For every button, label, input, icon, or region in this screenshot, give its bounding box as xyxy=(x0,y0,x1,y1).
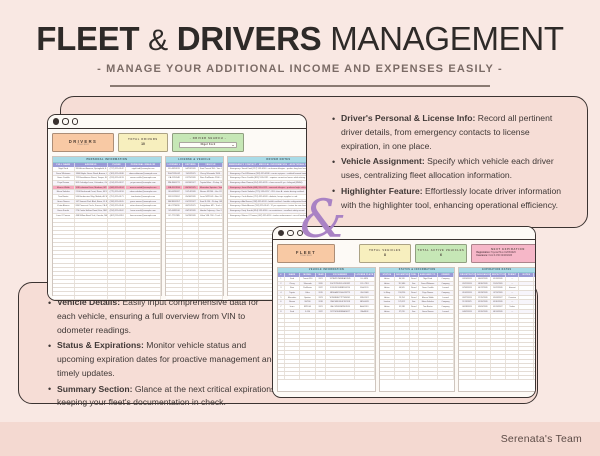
table-cell[interactable]: Chevy Silverado 1500 - #07 xyxy=(199,172,223,176)
table-cell[interactable]: 37,220 xyxy=(395,310,410,314)
summary-card-pink[interactable]: NEXT EXPIRATIONRegistration: Toyota Hilu… xyxy=(471,244,536,263)
table-cell[interactable]: Company xyxy=(438,282,454,286)
table-cell[interactable]: Tom Baxter xyxy=(53,195,75,199)
table-cell-empty[interactable] xyxy=(108,255,126,258)
table-cell-empty[interactable] xyxy=(300,360,316,363)
table-cell-empty[interactable] xyxy=(108,235,126,238)
table-cell-empty[interactable] xyxy=(166,300,183,301)
table-cell[interactable]: 39 Hillcrest Avenue, Springfield, IL 627… xyxy=(75,167,108,171)
table-cell-empty[interactable] xyxy=(380,331,395,334)
table-cell-empty[interactable] xyxy=(75,272,108,275)
table-cell-empty[interactable] xyxy=(419,319,438,322)
table-cell-empty[interactable] xyxy=(506,335,520,338)
table-cell-empty[interactable] xyxy=(419,327,438,330)
table-cell-empty[interactable] xyxy=(53,280,75,283)
table-cell-empty[interactable] xyxy=(410,376,419,379)
table-cell[interactable]: Owen Castillo xyxy=(53,176,75,180)
table-row-empty[interactable] xyxy=(53,300,161,301)
table-cell[interactable]: Emergency: Dmitri Sokolov (775) 555-0157… xyxy=(228,190,307,194)
table-cell-empty[interactable] xyxy=(355,360,375,363)
table-cell[interactable]: 1FTBW2CM3MKA12845 xyxy=(326,277,354,281)
table-cell-empty[interactable] xyxy=(199,255,223,258)
table-cell-empty[interactable] xyxy=(108,219,126,222)
table-cell[interactable]: 05/06/2026 xyxy=(183,195,199,199)
table-cell-empty[interactable] xyxy=(491,319,506,322)
table-cell-empty[interactable] xyxy=(459,368,476,371)
table-cell[interactable]: 84,120 xyxy=(395,277,410,281)
table-row-empty[interactable] xyxy=(166,300,223,301)
table-body[interactable]: Active84,120DieselNigel FordCompanyActiv… xyxy=(380,277,454,391)
table-cell[interactable]: Active xyxy=(380,277,395,281)
table-cell-empty[interactable] xyxy=(459,319,476,322)
table-cell-empty[interactable] xyxy=(506,360,520,363)
table-cell-empty[interactable] xyxy=(355,319,375,322)
table-cell[interactable]: 3GCPYFED2LG110932 xyxy=(326,282,354,286)
table-cell[interactable]: 08/11/2025 xyxy=(183,204,199,208)
table-cell[interactable]: Hazmat xyxy=(506,286,520,290)
table-cell-empty[interactable] xyxy=(519,327,534,330)
table-cell-empty[interactable] xyxy=(476,368,491,371)
table-cell-empty[interactable] xyxy=(183,284,199,287)
table-cell-empty[interactable] xyxy=(410,368,419,371)
table-cell-empty[interactable] xyxy=(285,339,301,342)
table-cell-empty[interactable] xyxy=(166,231,183,234)
table-cell-empty[interactable] xyxy=(126,288,161,291)
table-cell-empty[interactable] xyxy=(75,239,108,242)
table-cell[interactable]: Grace Nwosu xyxy=(419,310,438,314)
table-cell-empty[interactable] xyxy=(459,327,476,330)
table-cell-empty[interactable] xyxy=(278,335,285,338)
table-cell-empty[interactable] xyxy=(126,259,161,262)
table-cell[interactable]: ALA-5519 xyxy=(355,305,375,309)
table-cell[interactable] xyxy=(519,300,534,304)
table-cell[interactable]: Dana Whitmore xyxy=(53,172,75,176)
table-cell[interactable]: 564 Harborview Way, Mobile, AL 36604 xyxy=(75,195,108,199)
table-cell[interactable]: — xyxy=(506,300,520,304)
table-cell-empty[interactable] xyxy=(126,300,161,301)
table-cell[interactable]: 07/09/2026 xyxy=(459,286,476,290)
table-cell-empty[interactable] xyxy=(326,368,354,371)
table-cell[interactable]: OC-7712385 xyxy=(166,214,183,218)
table-cell-empty[interactable] xyxy=(491,339,506,342)
table-cell-empty[interactable] xyxy=(285,360,301,363)
table-cell[interactable]: MR0HA3CD500418773 xyxy=(326,291,354,295)
table-cell-empty[interactable] xyxy=(506,376,520,379)
table-cell-empty[interactable] xyxy=(53,247,75,250)
table-cell-empty[interactable] xyxy=(476,314,491,317)
table-cell-empty[interactable] xyxy=(491,331,506,334)
summary-card-yellow[interactable]: TOTAL VEHICLES8 xyxy=(359,244,411,263)
table-cell-empty[interactable] xyxy=(199,247,223,250)
table-cell-empty[interactable] xyxy=(166,288,183,291)
table-cell[interactable]: 06/18/2026 xyxy=(459,305,476,309)
table-cell-empty[interactable] xyxy=(506,323,520,326)
table-cell-empty[interactable] xyxy=(506,355,520,358)
table-cell-empty[interactable] xyxy=(108,280,126,283)
table-cell-empty[interactable] xyxy=(183,280,199,283)
table-cell[interactable]: WIS-3374 xyxy=(355,296,375,300)
table-cell-empty[interactable] xyxy=(278,355,285,358)
table-cell-empty[interactable] xyxy=(355,314,375,317)
table-cell-empty[interactable] xyxy=(199,243,223,246)
table-cell-empty[interactable] xyxy=(126,231,161,234)
table-cell-empty[interactable] xyxy=(380,372,395,375)
table-row-empty[interactable] xyxy=(380,376,454,380)
table-cell-empty[interactable] xyxy=(53,251,75,254)
table-cell-empty[interactable] xyxy=(410,339,419,342)
table-cell-empty[interactable] xyxy=(326,355,354,358)
table-cell-empty[interactable] xyxy=(199,300,223,301)
table-cell-empty[interactable] xyxy=(166,272,183,275)
table-cell-empty[interactable] xyxy=(75,288,108,291)
table-cell-empty[interactable] xyxy=(53,223,75,226)
table-cell[interactable]: Volvo VNL 760 - Truck #02 xyxy=(199,214,223,218)
table-cell-empty[interactable] xyxy=(519,335,534,338)
table-cell-empty[interactable] xyxy=(380,376,395,379)
table-cell-empty[interactable] xyxy=(355,339,375,342)
table-cell-empty[interactable] xyxy=(459,364,476,367)
table-cell[interactable]: NEV-6628 xyxy=(355,300,375,304)
table-cell-empty[interactable] xyxy=(438,355,454,358)
table-cell[interactable]: Company xyxy=(438,305,454,309)
table-cell[interactable]: Active xyxy=(380,282,395,286)
table-cell-empty[interactable] xyxy=(326,372,354,375)
table-cell-empty[interactable] xyxy=(410,331,419,334)
table-cell-empty[interactable] xyxy=(410,360,419,363)
table-cell-empty[interactable] xyxy=(300,355,316,358)
table-cell-empty[interactable] xyxy=(75,251,108,254)
table-cell-empty[interactable] xyxy=(491,335,506,338)
table-cell[interactable]: 3 xyxy=(278,286,285,290)
table-cell-empty[interactable] xyxy=(53,296,75,299)
table-cell[interactable]: 4 xyxy=(278,291,285,295)
table-cell-empty[interactable] xyxy=(506,339,520,342)
table-cell[interactable]: Emergency: Rosa Castillo (813) 555-0131 … xyxy=(228,176,307,180)
table-cell-empty[interactable] xyxy=(395,376,410,379)
drivers-spreadsheet-window[interactable]: DRIVERSTRACKERTOTAL DRIVERS10- DRIVER SE… xyxy=(47,114,307,301)
table-cell-empty[interactable] xyxy=(126,243,161,246)
table-cell[interactable]: 3N6CM0KN0JK702318 xyxy=(326,300,354,304)
table-cell[interactable]: Oversize xyxy=(506,296,520,300)
table-cell-empty[interactable] xyxy=(326,314,354,317)
table-cell-empty[interactable] xyxy=(75,268,108,271)
table-cell[interactable]: 2110 Birchwood Court, Reno, NV 89503 xyxy=(75,190,108,194)
table-cell-empty[interactable] xyxy=(199,223,223,226)
table-cell-empty[interactable] xyxy=(519,355,534,358)
table-cell[interactable]: Leased xyxy=(438,296,454,300)
table-cell-empty[interactable] xyxy=(491,368,506,371)
table-cell-empty[interactable] xyxy=(316,323,327,326)
table-cell-empty[interactable] xyxy=(380,368,395,371)
table-cell[interactable]: 08/14/2026 xyxy=(491,310,506,314)
table-cell[interactable]: (775) 555-0159 xyxy=(108,190,126,194)
table-cell-empty[interactable] xyxy=(278,331,285,334)
table-cell-empty[interactable] xyxy=(278,372,285,375)
table-body[interactable]: FD-482019304/18/2026Ford Transit 350 - V… xyxy=(166,167,223,301)
table-cell[interactable]: Diesel xyxy=(410,296,419,300)
table-cell-empty[interactable] xyxy=(285,314,301,317)
table-cell-empty[interactable] xyxy=(316,343,327,346)
table-cell[interactable]: 11/13/2025 xyxy=(459,300,476,304)
table-cell-empty[interactable] xyxy=(355,368,375,371)
table-cell-empty[interactable] xyxy=(285,335,301,338)
table-cell[interactable]: Marcus Webb xyxy=(419,296,438,300)
table-cell-empty[interactable] xyxy=(166,280,183,283)
table-cell[interactable]: ILL-4820 xyxy=(355,277,375,281)
table-cell[interactable]: Ford F-150 - Pickup #09 xyxy=(199,200,223,204)
table-cell-empty[interactable] xyxy=(395,319,410,322)
table-cell-empty[interactable] xyxy=(438,372,454,375)
table-cell[interactable]: Diesel xyxy=(410,305,419,309)
table-cell-empty[interactable] xyxy=(108,259,126,262)
table-cell-empty[interactable] xyxy=(419,323,438,326)
table-cell-empty[interactable] xyxy=(108,251,126,254)
table-cell[interactable]: 46,905 xyxy=(395,286,410,290)
table-cell-empty[interactable] xyxy=(519,372,534,375)
table-cell-empty[interactable] xyxy=(108,264,126,267)
table-cell-empty[interactable] xyxy=(166,251,183,254)
table-cell-empty[interactable] xyxy=(278,347,285,350)
table-cell[interactable]: Grace Nwosu xyxy=(53,200,75,204)
table-cell-empty[interactable] xyxy=(285,347,301,350)
table-cell-empty[interactable] xyxy=(300,335,316,338)
table-cell-empty[interactable] xyxy=(199,284,223,287)
table-cell[interactable]: 02/09/2027 xyxy=(183,181,199,185)
drivers-table[interactable]: PERSONAL INFORMATIONFULL NAMEADDRESSPHON… xyxy=(52,156,302,296)
table-cell[interactable]: JALC4W165M7001924 xyxy=(326,305,354,309)
table-cell-empty[interactable] xyxy=(75,227,108,230)
table-cell[interactable]: 2021 xyxy=(316,277,327,281)
table-cell-empty[interactable] xyxy=(278,314,285,317)
table-cell-empty[interactable] xyxy=(326,327,354,330)
table-cell[interactable]: Hilux xyxy=(300,291,316,295)
table-cell[interactable]: 04/17/2026 xyxy=(476,286,491,290)
table-cell-empty[interactable] xyxy=(126,235,161,238)
table-cell-empty[interactable] xyxy=(285,351,301,354)
table-cell[interactable]: NV200 xyxy=(300,300,316,304)
table-cell[interactable]: 2021 xyxy=(316,305,327,309)
table-cell-empty[interactable] xyxy=(53,227,75,230)
table-cell[interactable]: 2 xyxy=(278,282,285,286)
table-cell-empty[interactable] xyxy=(438,351,454,354)
table-cell[interactable] xyxy=(519,291,534,295)
table-cell-empty[interactable] xyxy=(166,235,183,238)
table-cell-empty[interactable] xyxy=(459,343,476,346)
table-cell-empty[interactable] xyxy=(419,347,438,350)
table-body[interactable]: 03/14/202606/02/202609/18/2026—05/21/202… xyxy=(459,277,534,391)
table-cell-empty[interactable] xyxy=(395,314,410,317)
table-cell-empty[interactable] xyxy=(183,288,199,291)
table-cell[interactable]: Nissan NV200 - Van #15 xyxy=(199,190,223,194)
table-cell[interactable]: Diesel xyxy=(410,291,419,295)
table-cell-empty[interactable] xyxy=(300,343,316,346)
table-cell-empty[interactable] xyxy=(278,360,285,363)
table-cell[interactable]: 2019 xyxy=(316,291,327,295)
table-cell[interactable]: — xyxy=(506,310,520,314)
table-cell[interactable]: 1 xyxy=(278,277,285,281)
maximize-icon[interactable] xyxy=(72,118,78,124)
table-cell[interactable]: (251) 555-0171 xyxy=(108,195,126,199)
table-cell-empty[interactable] xyxy=(75,280,108,283)
table-cell[interactable]: Freightliner M2 - Truck #01 xyxy=(199,204,223,208)
table-cell[interactable]: grace.nwosu@example.com xyxy=(126,200,161,204)
table-body[interactable]: Nigel Ford39 Hillcrest Avenue, Springfie… xyxy=(53,167,161,301)
table-cell[interactable]: Emergency: Janet Webb (608) 555-0122 - s… xyxy=(228,186,307,190)
table-cell-empty[interactable] xyxy=(126,284,161,287)
table-cell-empty[interactable] xyxy=(75,223,108,226)
table-cell-empty[interactable] xyxy=(183,235,199,238)
table-cell[interactable]: 11/02/2025 xyxy=(183,172,199,176)
table-cell-empty[interactable] xyxy=(491,314,506,317)
table-cell-empty[interactable] xyxy=(285,343,301,346)
table-cell-empty[interactable] xyxy=(380,327,395,330)
table-cell-empty[interactable] xyxy=(491,372,506,375)
table-cell-empty[interactable] xyxy=(183,219,199,222)
table-cell-empty[interactable] xyxy=(410,335,419,338)
table-cell-empty[interactable] xyxy=(355,355,375,358)
table-cell[interactable]: Emergency: Marta Alvarez (559) 555-0144 … xyxy=(228,204,307,208)
table-cell-empty[interactable] xyxy=(380,364,395,367)
table-cell-empty[interactable] xyxy=(326,376,354,379)
table-cell-empty[interactable] xyxy=(126,264,161,267)
table-cell-empty[interactable] xyxy=(519,364,534,367)
table-cell-empty[interactable] xyxy=(183,296,199,299)
table-cell-empty[interactable] xyxy=(459,314,476,317)
table-cell[interactable]: 03/19/2026 xyxy=(183,209,199,213)
table-cell-empty[interactable] xyxy=(278,327,285,330)
table-cell-empty[interactable] xyxy=(199,231,223,234)
table-cell[interactable]: Ford Transit 350 - Van #12 xyxy=(199,167,223,171)
table-cell-empty[interactable] xyxy=(278,376,285,379)
table-cell[interactable]: CA-1120548 xyxy=(166,176,183,180)
table-cell-empty[interactable] xyxy=(519,331,534,334)
table-cell[interactable]: Toyota xyxy=(285,291,301,295)
table-cell-empty[interactable] xyxy=(183,223,199,226)
table-cell[interactable]: Emergency: Carla Baxter (251) 555-0169 -… xyxy=(228,195,307,199)
table-cell-empty[interactable] xyxy=(285,319,301,322)
table-cell[interactable]: Active xyxy=(380,296,395,300)
table-cell[interactable]: Sprinter xyxy=(300,296,316,300)
table-cell[interactable]: In Shop xyxy=(380,291,395,295)
table-cell[interactable]: Nissan xyxy=(285,300,301,304)
table-cell[interactable]: Tom Baxter xyxy=(419,305,438,309)
table-cell[interactable]: 07/25/2026 xyxy=(183,176,199,180)
table-cell-empty[interactable] xyxy=(491,360,506,363)
table-cell-empty[interactable] xyxy=(438,339,454,342)
table-cell-empty[interactable] xyxy=(126,219,161,222)
table-cell-empty[interactable] xyxy=(355,364,375,367)
table-cell-empty[interactable] xyxy=(126,251,161,254)
table-cell[interactable]: 09/27/2026 xyxy=(459,296,476,300)
table-cell-empty[interactable] xyxy=(183,292,199,295)
table-cell[interactable]: Active xyxy=(380,310,395,314)
table-cell-empty[interactable] xyxy=(476,355,491,358)
table-cell-empty[interactable] xyxy=(126,223,161,226)
table-cell-empty[interactable] xyxy=(519,339,534,342)
table-cell[interactable]: Emergency: Kenji Suzuki (814) 555-0160 -… xyxy=(228,209,307,213)
table-cell-empty[interactable] xyxy=(410,351,419,354)
table-cell-empty[interactable] xyxy=(355,323,375,326)
table-cell[interactable]: Elena Sokolov xyxy=(53,190,75,194)
table-cell[interactable]: NW-8803157 xyxy=(166,200,183,204)
table-cell-empty[interactable] xyxy=(199,235,223,238)
table-cell[interactable] xyxy=(519,286,534,290)
table-cell-empty[interactable] xyxy=(476,372,491,375)
table-cell-empty[interactable] xyxy=(438,376,454,379)
table-cell-empty[interactable] xyxy=(519,319,534,322)
table-cell-empty[interactable] xyxy=(285,376,301,379)
table-cell-empty[interactable] xyxy=(491,323,506,326)
table-cell-empty[interactable] xyxy=(300,331,316,334)
table-cell-empty[interactable] xyxy=(506,331,520,334)
table-cell[interactable]: Leased xyxy=(438,310,454,314)
table-cell-empty[interactable] xyxy=(126,272,161,275)
table-cell-empty[interactable] xyxy=(326,335,354,338)
table-cell-empty[interactable] xyxy=(53,276,75,279)
fleet-table[interactable]: VEHICLE INFORMATION#MAKEMODELYEARVIN NUM… xyxy=(277,267,531,392)
table-cell-empty[interactable] xyxy=(300,364,316,367)
table-cell[interactable]: tom.baxter@example.com xyxy=(126,195,161,199)
table-cell-empty[interactable] xyxy=(199,264,223,267)
table-cell-empty[interactable] xyxy=(476,364,491,367)
table-cell-empty[interactable] xyxy=(183,272,199,275)
table-cell-empty[interactable] xyxy=(126,292,161,295)
table-cell[interactable]: 02/08/2027 xyxy=(491,296,506,300)
table-cell[interactable]: 2018 xyxy=(316,300,327,304)
table-cell[interactable]: Inactive xyxy=(380,300,395,304)
table-cell[interactable]: BX-5519624 xyxy=(166,195,183,199)
table-cell[interactable]: Nigel Ford xyxy=(419,277,438,281)
table-cell[interactable] xyxy=(519,305,534,309)
table-cell[interactable]: Honda Odyssey - Van #26 xyxy=(199,209,223,213)
table-cell[interactable]: 1840 Maple Grove Road, Aurora, CO 80013 xyxy=(75,172,108,176)
table-cell[interactable]: dana.whitmore@example.com xyxy=(126,172,161,176)
table-cell-empty[interactable] xyxy=(300,368,316,371)
table-cell[interactable]: W1W4EBVY7PT094561 xyxy=(326,296,354,300)
table-cell-empty[interactable] xyxy=(316,376,327,379)
table-cell-empty[interactable] xyxy=(459,347,476,350)
fleet-spreadsheet-window[interactable]: FLEETTRACKERTOTAL VEHICLES8TOTAL ACTIVE … xyxy=(272,226,536,398)
table-cell-empty[interactable] xyxy=(126,247,161,250)
table-cell[interactable]: 176,512 xyxy=(395,300,410,304)
close-icon[interactable] xyxy=(278,230,284,236)
table-cell-empty[interactable] xyxy=(380,339,395,342)
table-cell-empty[interactable] xyxy=(53,300,75,301)
table-cell-empty[interactable] xyxy=(300,372,316,375)
table-cell-empty[interactable] xyxy=(380,323,395,326)
table-cell-empty[interactable] xyxy=(316,347,327,350)
table-cell[interactable]: 04/02/2026 xyxy=(459,310,476,314)
table-cell[interactable]: Ford xyxy=(285,310,301,314)
table-cell[interactable]: (402) 555-0118 xyxy=(108,214,126,218)
table-cell[interactable]: priya.raman@example.com xyxy=(126,181,161,185)
table-cell-empty[interactable] xyxy=(438,360,454,363)
table-cell-empty[interactable] xyxy=(75,300,108,301)
table-cell[interactable]: WB-3374916 xyxy=(166,186,183,190)
table-cell[interactable]: 276 Cedar Hollow Road, Erie, PA 16501 xyxy=(75,209,108,213)
table-cell[interactable]: Elena Sokolov xyxy=(419,300,438,304)
table-cell-empty[interactable] xyxy=(108,276,126,279)
table-cell-empty[interactable] xyxy=(166,219,183,222)
table-cell-empty[interactable] xyxy=(278,343,285,346)
table-cell-empty[interactable] xyxy=(395,327,410,330)
table-cell[interactable]: Company xyxy=(438,300,454,304)
table-cell[interactable]: — xyxy=(506,277,520,281)
summary-card-yellow[interactable]: TOTAL DRIVERS10 xyxy=(118,133,168,152)
table-cell-empty[interactable] xyxy=(419,331,438,334)
table-cell-empty[interactable] xyxy=(476,331,491,334)
table-cell[interactable]: 11/05/2026 xyxy=(491,282,506,286)
